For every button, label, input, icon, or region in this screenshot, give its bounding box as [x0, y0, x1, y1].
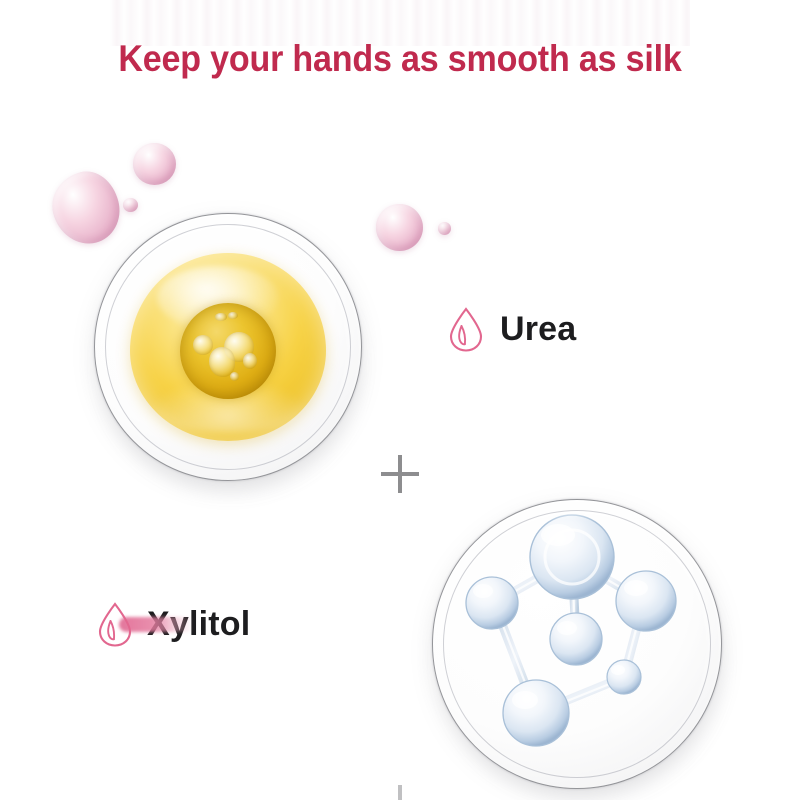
oil-bubble — [209, 347, 235, 377]
molecule-structure-icon — [432, 499, 722, 789]
water-drop-icon — [448, 306, 484, 352]
plus-sign-icon — [381, 455, 419, 493]
ingredient-label-xylitol: Xylitol — [97, 601, 250, 647]
molecule-petri-dish — [432, 499, 722, 789]
pink-droplet-round — [133, 143, 176, 185]
ingredient-label-urea: Urea — [448, 306, 576, 352]
oil-bubble — [224, 332, 254, 362]
oil-bubble — [215, 313, 227, 321]
pink-droplet-tiny — [123, 198, 138, 212]
plus-vertical-bar — [398, 785, 402, 800]
oil-bubble — [243, 353, 257, 369]
ingredient-name: Urea — [500, 310, 576, 349]
plus-vertical-bar — [398, 455, 402, 493]
oil-bubble — [193, 335, 213, 355]
oil-highlight-sheen — [157, 266, 279, 330]
oil-petri-dish — [94, 213, 362, 481]
plus-sign-icon-cropped — [390, 785, 410, 800]
promo-banner: Keep your hands as smooth as silk — [0, 0, 800, 800]
oil-dark-core — [180, 303, 276, 399]
pink-droplet-round — [376, 204, 423, 251]
pink-droplet-large — [45, 165, 126, 251]
oil-lower-highlight — [146, 377, 311, 433]
oil-bubble — [228, 312, 238, 319]
water-drop-icon — [97, 601, 133, 647]
page-title: Keep your hands as smooth as silk — [32, 38, 768, 80]
golden-oil-pool — [130, 253, 326, 441]
pink-droplet-tiny — [438, 222, 451, 235]
oil-bubble — [230, 372, 239, 381]
